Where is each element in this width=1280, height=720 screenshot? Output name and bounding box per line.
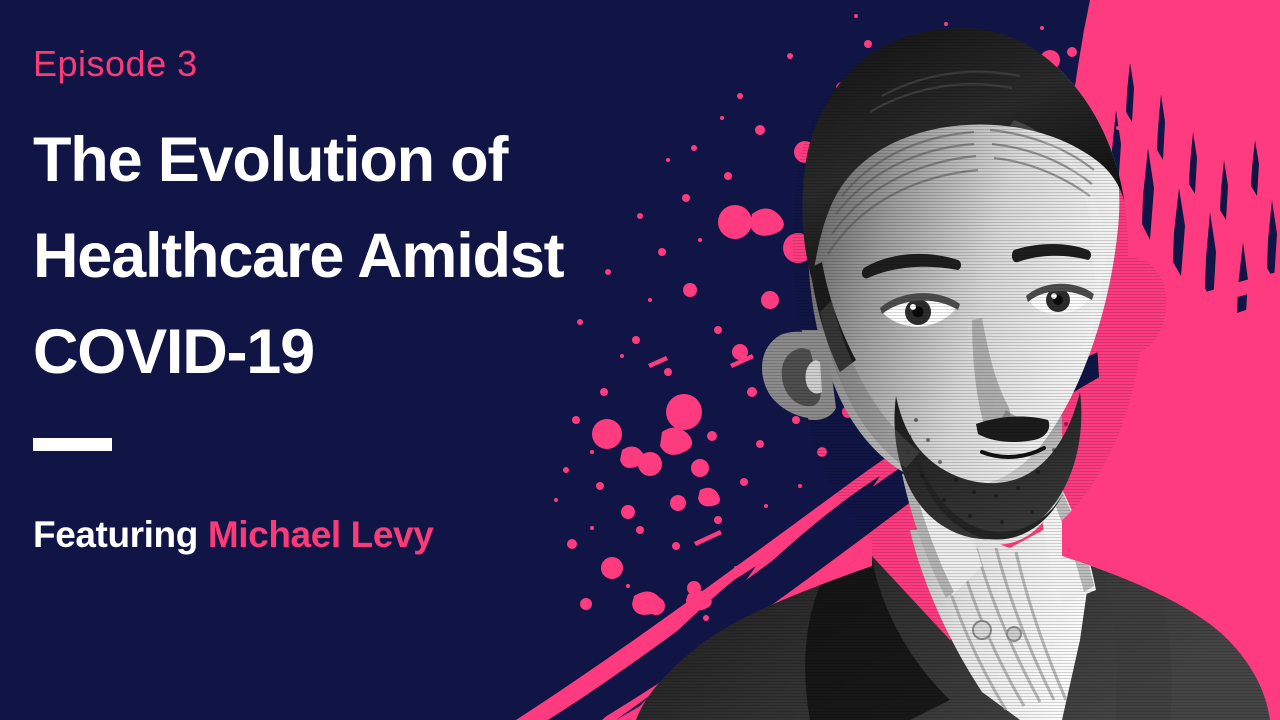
- divider-rule: [33, 438, 112, 451]
- featuring-line: Featuring Michael Levy: [33, 513, 433, 557]
- title-line-3: COVID-19: [33, 305, 733, 401]
- page-title: The Evolution of Healthcare Amidst COVID…: [33, 113, 733, 400]
- guest-name: Michael Levy: [208, 514, 434, 555]
- cover-text-block: Episode 3 The Evolution of Healthcare Am…: [33, 0, 733, 720]
- title-line-2: Healthcare Amidst: [33, 209, 733, 305]
- episode-label: Episode 3: [33, 44, 198, 84]
- episode-cover-canvas: Episode 3 The Evolution of Healthcare Am…: [0, 0, 1280, 720]
- title-line-1: The Evolution of: [33, 113, 733, 209]
- featuring-prefix: Featuring: [33, 514, 198, 555]
